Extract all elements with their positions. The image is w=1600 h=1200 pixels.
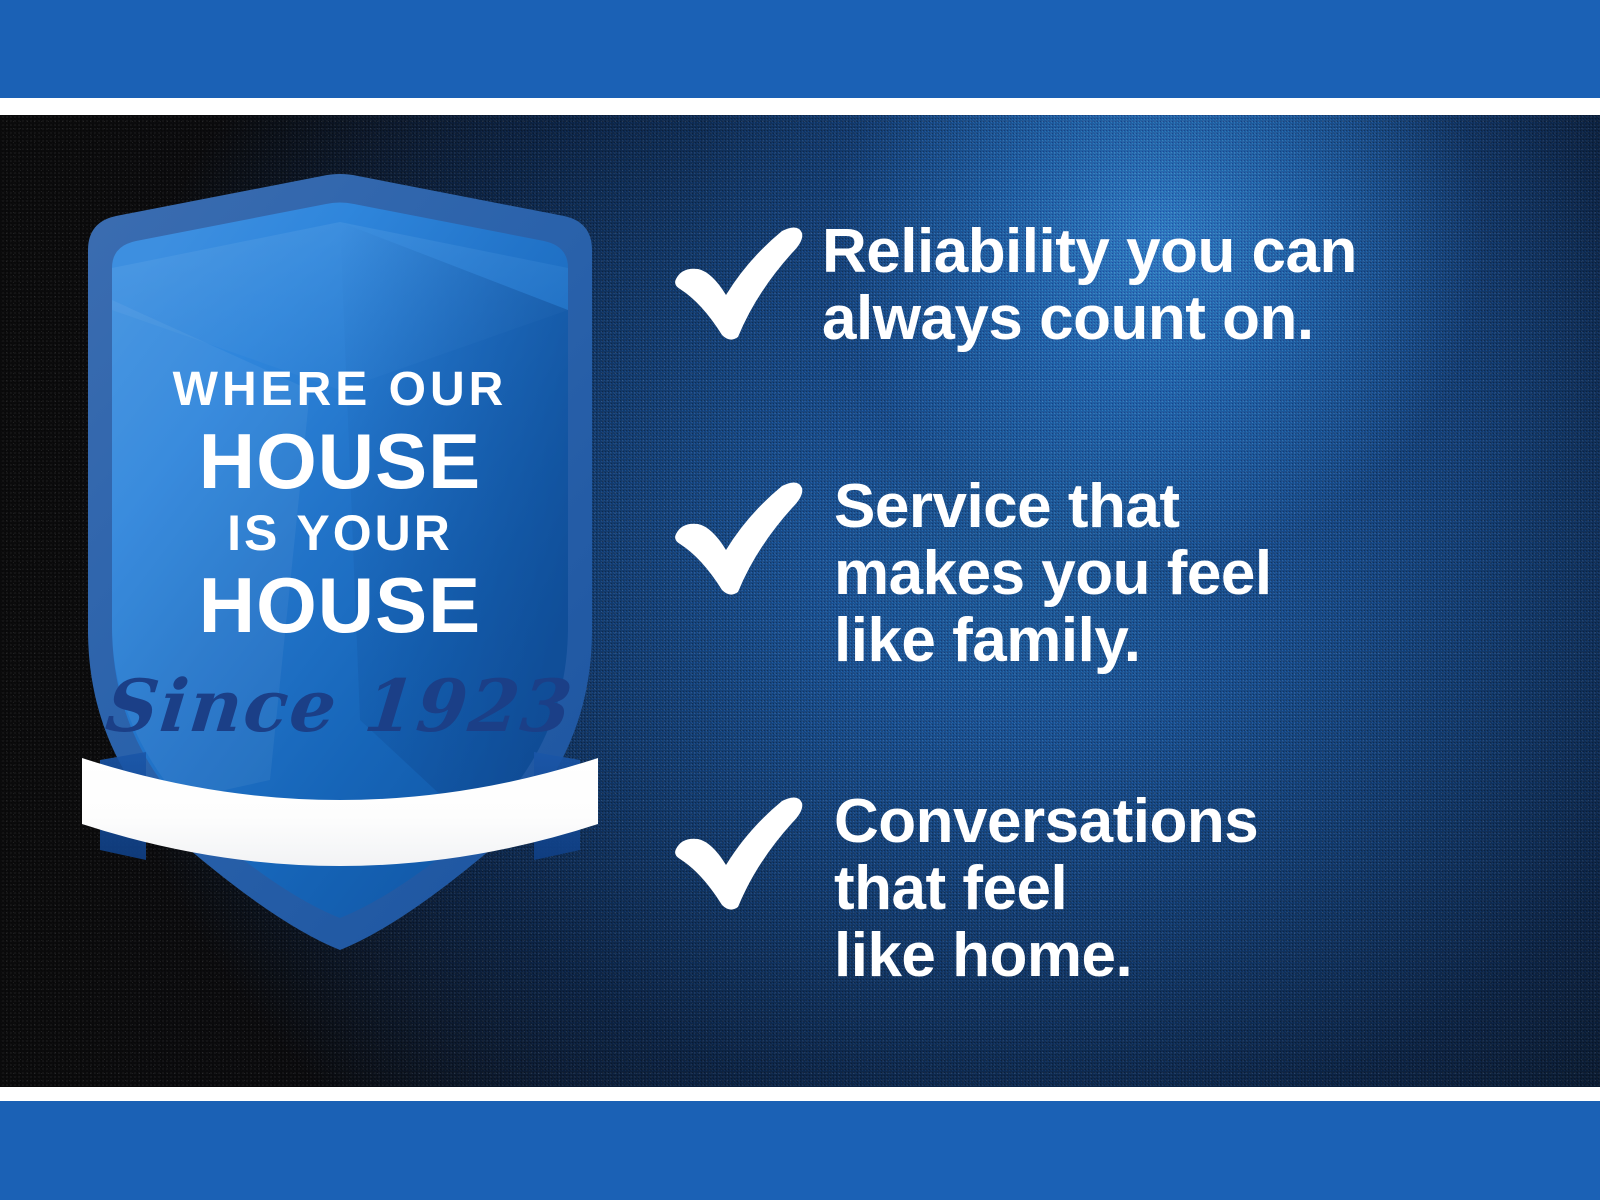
benefit-text: Service that makes you feel like family. xyxy=(834,470,1272,675)
benefit-line: makes you feel xyxy=(834,541,1272,608)
benefit-line: like home. xyxy=(834,923,1258,990)
list-item: Reliability you can always count on. xyxy=(668,215,1488,353)
benefit-line: Reliability you can xyxy=(822,219,1357,286)
shield-graphic xyxy=(60,160,620,950)
benefit-line: like family. xyxy=(834,608,1272,675)
top-blue-frame-bar xyxy=(0,0,1600,98)
benefit-line: that feel xyxy=(834,856,1258,923)
benefit-text: Conversations that feel like home. xyxy=(834,785,1258,990)
bottom-blue-frame-bar xyxy=(0,1101,1600,1200)
benefit-line: always count on. xyxy=(822,286,1357,353)
top-white-divider xyxy=(0,98,1600,115)
benefits-list: Reliability you can always count on. Ser… xyxy=(668,115,1488,1087)
list-item: Service that makes you feel like family. xyxy=(668,470,1488,675)
benefit-text: Reliability you can always count on. xyxy=(822,215,1357,353)
checkmark-icon xyxy=(668,476,808,596)
benefit-line: Conversations xyxy=(834,789,1258,856)
bottom-white-divider xyxy=(0,1087,1600,1101)
list-item: Conversations that feel like home. xyxy=(668,785,1488,990)
promotional-banner: WHERE OUR HOUSE IS YOUR HOUSE Since 1923… xyxy=(0,0,1600,1200)
checkmark-icon xyxy=(668,791,808,911)
shield-badge: WHERE OUR HOUSE IS YOUR HOUSE Since 1923 xyxy=(60,160,620,950)
benefit-line: Service that xyxy=(834,474,1272,541)
checkmark-icon xyxy=(668,221,808,341)
